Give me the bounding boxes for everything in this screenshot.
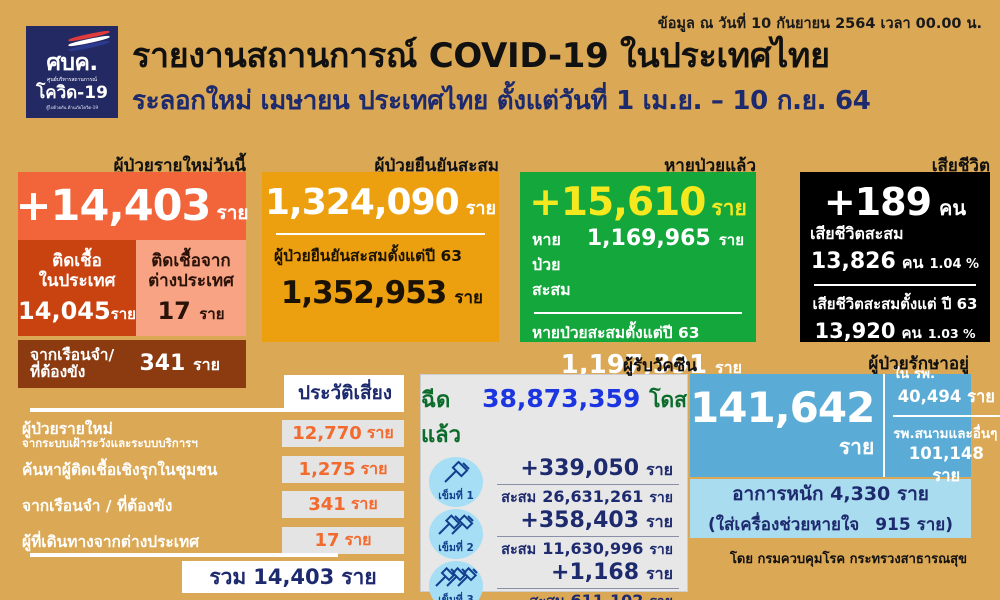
- vaccine-dose-row: เข็มที่ 1 +339,050 ราย สะสม 26,631,261 ร…: [421, 456, 687, 508]
- logo-main-text: ศบค.: [46, 52, 97, 75]
- risk-row-label-2: จากเรือนจำ / ที่ต้องขัง: [22, 498, 172, 514]
- dose-3-new-unit: ราย: [646, 562, 673, 587]
- in-hospital-value: 40,494 ราย: [893, 384, 1000, 410]
- divider: [814, 284, 976, 286]
- syringe-1-icon: เข็มที่ 1: [429, 457, 483, 507]
- logo-sub-text: ศูนย์บริหารสถานการณ์: [47, 77, 97, 83]
- risk-row: ผู้ป่วยรายใหม่ จากระบบเฝ้าระวังและระบบบร…: [22, 417, 404, 453]
- logo-covid-text: โควิด-19: [36, 84, 108, 103]
- recovered-value: +15,610: [529, 180, 705, 225]
- dose-2-cum-value: 11,630,996: [542, 539, 643, 558]
- risk-history-total: รวม 14,403 ราย: [182, 561, 404, 593]
- risk-row-unit-0: ราย: [367, 421, 394, 446]
- new-cases-unit: ราย: [216, 184, 248, 228]
- sbc-logo: ศบค. ศูนย์บริหารสถานการณ์ โควิด-19 สู้ไป…: [26, 26, 118, 118]
- dose-2-cum-label: สะสม: [501, 538, 536, 561]
- dose-2-new-unit: ราย: [646, 510, 673, 535]
- severe-value: 4,330: [830, 483, 890, 505]
- cumulative-since63-label: ผู้ป่วยยืนยันสะสมตั้งแต่ปี 63: [274, 243, 487, 268]
- syringe-glyph: [434, 565, 478, 591]
- prison-label-line2: ที่ต้องขัง: [30, 363, 85, 381]
- recovered-unit: ราย: [711, 180, 746, 225]
- syringe-glyph: [439, 461, 473, 487]
- risk-history-rows: ผู้ป่วยรายใหม่ จากระบบเฝ้าระวังและระบบบร…: [22, 417, 404, 560]
- risk-row-value-box-0: 12,770 ราย: [282, 420, 404, 447]
- vaccine-injected-label: ฉีดแล้ว: [421, 382, 473, 452]
- risk-row: ค้นหาผู้ติดเชื้อเชิงรุกในชุมชน 1,275 ราย: [22, 453, 404, 488]
- page-subtitle: ระลอกใหม่ เมษายน ประเทศไทย ตั้งแต่วันที่…: [132, 80, 871, 121]
- deaths-since63-value: 13,920: [814, 319, 895, 343]
- risk-row-label-1: ค้นหาผู้ติดเชื้อเชิงรุกในชุมชน: [22, 462, 217, 478]
- risk-row-value-box-1: 1,275 ราย: [282, 456, 404, 483]
- risk-total-value: 14,403: [253, 565, 334, 589]
- domestic-value: 14,045: [18, 297, 111, 325]
- risk-row-unit-1: ราย: [360, 457, 387, 482]
- imported-label-line1: ติดเชื้อจาก: [151, 251, 230, 271]
- dose-2-new-value: +358,403: [520, 508, 639, 533]
- recovered-since63-label: หายป่วยสะสมตั้งแต่ปี 63: [532, 320, 744, 345]
- imported-unit: ราย: [199, 305, 224, 323]
- dose-2-cum-unit: ราย: [649, 539, 673, 561]
- dose-3-new-value: +1,168: [551, 560, 639, 585]
- dose-1-cum-value: 26,631,261: [542, 487, 643, 506]
- recovered-cum-unit: ราย: [719, 228, 744, 252]
- new-cases-value-row: +14,403 ราย: [18, 172, 246, 240]
- cumulative-since63-unit: ราย: [454, 284, 483, 311]
- covid-dashboard: ศบค. ศูนย์บริหารสถานการณ์ โควิด-19 สู้ไป…: [0, 0, 1000, 600]
- vaccine-dose-row: เข็มที่ 2 +358,403 ราย สะสม 11,630,996 ร…: [421, 508, 687, 560]
- domestic-unit: ราย: [111, 305, 136, 323]
- page-title: รายงานสถานการณ์ COVID-19 ในประเทศไทย: [132, 28, 830, 82]
- risk-total-unit: ราย: [341, 561, 376, 594]
- deaths-cum-value: 13,826: [811, 249, 896, 274]
- cumulative-unit: ราย: [466, 193, 496, 222]
- dose-3-cum-label: สะสม: [529, 590, 564, 600]
- vaccine-header: ผู้รับวัคซีน: [623, 352, 697, 379]
- treatment-value: 141,642: [690, 387, 874, 428]
- prison-label-line1: จากเรือนจำ/: [30, 346, 114, 364]
- recovered-cum-label: หายป่วยสะสม: [532, 228, 579, 303]
- deaths-since63-label: เสียชีวิตสะสมตั้งแต่ ปี 63: [810, 292, 980, 316]
- deaths-cum-label: เสียชีวิตสะสม: [810, 222, 980, 247]
- divider: [497, 588, 679, 589]
- deaths-value: +189: [824, 180, 931, 224]
- prison-value: 341: [139, 351, 185, 376]
- severe-label: อาการหนัก: [732, 483, 823, 505]
- syringe-glyph: [436, 513, 476, 539]
- treatment-main: 141,642 ราย ใน รพ. 40,494 ราย รพ.สนามและ…: [690, 374, 971, 477]
- vaccine-total-row: ฉีดแล้ว 38,873,359 โดส: [421, 375, 687, 456]
- risk-row-label-0: ผู้ป่วยรายใหม่: [22, 421, 198, 437]
- domestic-cases-block: ติดเชื้อ ในประเทศ 14,045ราย: [18, 240, 136, 336]
- divider: [893, 415, 1000, 417]
- ventilator-value: 915: [865, 515, 911, 535]
- imported-label-line2: ต่างประเทศ: [148, 271, 234, 291]
- severe-cases-block: อาการหนัก 4,330 ราย (ใส่เครื่องช่วยหายใจ…: [690, 479, 971, 538]
- vaccine-injected-unit: โดส: [649, 384, 687, 417]
- risk-row-value-3: 17: [314, 530, 339, 551]
- domestic-label-line2: ในประเทศ: [39, 271, 116, 291]
- header: ศบค. ศูนย์บริหารสถานการณ์ โควิด-19 สู้ไป…: [0, 0, 1000, 136]
- treatment-unit: ราย: [839, 431, 874, 464]
- risk-total-label: รวม: [209, 561, 246, 594]
- risk-history-rule-top: [30, 408, 338, 412]
- field-hospital-label: รพ.สนามและอื่นๆ: [893, 422, 1000, 444]
- new-cases-card: +14,403 ราย ติดเชื้อ ในประเทศ 14,045ราย …: [18, 172, 246, 388]
- treatment-header: ผู้ป่วยรักษาอยู่: [868, 350, 969, 377]
- syringe-2-icon: เข็มที่ 2: [429, 509, 483, 559]
- imported-value: 17: [157, 297, 190, 325]
- cumulative-value: 1,324,090: [265, 182, 459, 223]
- deaths-unit: คน: [939, 181, 966, 224]
- credit-text: โดย กรมควบคุมโรค กระทรวงสาธารณสุข: [690, 548, 971, 569]
- treatment-section: ผู้ป่วยรักษาอยู่ 141,642 ราย ใน รพ. 40,4…: [690, 374, 971, 569]
- syringe-3-icon: เข็มที่ 3: [429, 561, 483, 600]
- dose-1-cum-label: สะสม: [501, 486, 536, 509]
- ventilator-unit: ราย): [917, 515, 953, 535]
- vaccine-dose-row: เข็มที่ 3 +1,168 ราย สะสม 611,102 ราย: [421, 560, 687, 600]
- divider: [497, 536, 679, 537]
- risk-row-unit-3: ราย: [345, 528, 372, 553]
- vaccine-section: ผู้รับวัคซีน ฉีดแล้ว 38,873,359 โดส เข็ม…: [420, 374, 688, 592]
- risk-row-value-0: 12,770: [292, 423, 361, 444]
- new-cases-breakdown: ติดเชื้อ ในประเทศ 14,045ราย ติดเชื้อจาก …: [18, 240, 246, 336]
- recovered-card: +15,610 ราย หายป่วยสะสม 1,169,965 ราย หา…: [520, 172, 756, 342]
- prison-unit: ราย: [193, 355, 220, 374]
- dose-1-new-value: +339,050: [520, 456, 639, 481]
- dose-3-label: เข็มที่ 3: [438, 591, 474, 600]
- dose-3-cum-value: 611,102: [571, 591, 644, 600]
- severe-unit: ราย: [897, 483, 929, 505]
- risk-row-label-3: ผู้ที่เดินทางจากต่างประเทศ: [22, 534, 199, 550]
- risk-history-header: ประวัติเสี่ยง: [284, 375, 404, 412]
- cumulative-since63-value: 1,352,953: [281, 275, 447, 311]
- risk-row-value-box-2: 341 ราย: [282, 491, 404, 518]
- prison-cases-block: จากเรือนจำ/ ที่ต้องขัง 341 ราย: [18, 340, 246, 388]
- risk-row-value-2: 341: [308, 494, 346, 515]
- risk-row-value-box-3: 17 ราย: [282, 527, 404, 554]
- dose-1-new-unit: ราย: [646, 458, 673, 483]
- dose-1-label: เข็มที่ 1: [438, 487, 474, 504]
- divider: [276, 233, 485, 235]
- deaths-since63-unit: คน: [902, 321, 922, 345]
- vaccine-injected-value: 38,873,359: [482, 384, 640, 413]
- risk-row-value-1: 1,275: [299, 459, 356, 480]
- domestic-label-line1: ติดเชื้อ: [52, 251, 102, 271]
- thai-flag-icon: [68, 33, 110, 51]
- cumulative-confirmed-card: 1,324,090 ราย ผู้ป่วยยืนยันสะสมตั้งแต่ปี…: [262, 172, 499, 342]
- risk-row-sublabel-0: จากระบบเฝ้าระวังและระบบบริการฯ: [22, 437, 198, 449]
- risk-row-unit-2: ราย: [351, 492, 378, 517]
- divider: [534, 312, 742, 314]
- deaths-cum-pct: 1.04 %: [929, 257, 979, 272]
- deaths-cum-unit: คน: [902, 251, 924, 276]
- deaths-since63-pct: 1.03 %: [928, 326, 976, 341]
- dose-2-label: เข็มที่ 2: [438, 539, 474, 556]
- risk-history-rule-bottom: [30, 553, 338, 557]
- dose-3-cum-unit: ราย: [649, 591, 673, 600]
- deaths-card: +189 คน เสียชีวิตสะสม 13,826 คน 1.04 % เ…: [800, 172, 990, 342]
- recovered-cum-value: 1,169,965: [587, 226, 711, 251]
- new-cases-value: +14,403: [16, 181, 211, 231]
- ventilator-label: (ใส่เครื่องช่วยหายใจ: [708, 515, 859, 535]
- logo-tagline: สู้ไปด้วยกัน ต้านภัยโควิด-19: [46, 104, 98, 111]
- imported-cases-block: ติดเชื้อจาก ต่างประเทศ 17 ราย: [136, 240, 246, 336]
- divider: [497, 484, 679, 485]
- risk-row: จากเรือนจำ / ที่ต้องขัง 341 ราย: [22, 488, 404, 524]
- dose-1-cum-unit: ราย: [649, 487, 673, 509]
